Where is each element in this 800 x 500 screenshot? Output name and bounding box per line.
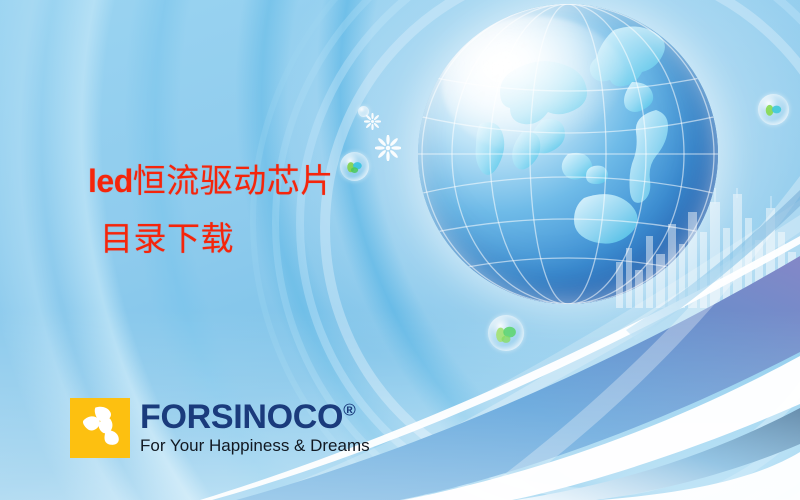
brand-name: FORSINOCO® bbox=[140, 401, 370, 434]
headline-line-2: 目录下载 bbox=[100, 222, 334, 255]
brand-name-text: FORSINOCO bbox=[140, 398, 343, 436]
globe-sphere bbox=[418, 4, 718, 304]
headline-line-1: led恒流驱动芯片 bbox=[88, 164, 334, 197]
brand-logo: FORSINOCO® For Your Happiness & Dreams bbox=[70, 398, 370, 458]
globe-rim-light bbox=[418, 4, 718, 304]
registered-trademark-icon: ® bbox=[343, 401, 355, 420]
earth-globe-icon bbox=[418, 4, 718, 304]
headline-text: led恒流驱动芯片 目录下载 bbox=[88, 164, 334, 255]
flower-mark-glyph bbox=[70, 398, 130, 458]
brand-tagline: For Your Happiness & Dreams bbox=[140, 436, 370, 456]
poster-canvas: led恒流驱动芯片 目录下载 FORSINOCO® For Your Happi… bbox=[0, 0, 800, 500]
brand-text-block: FORSINOCO® For Your Happiness & Dreams bbox=[140, 398, 370, 455]
headline-cjk: 恒流驱动芯片 bbox=[133, 161, 334, 200]
four-petal-flower-icon bbox=[70, 398, 130, 458]
headline-latin: led bbox=[88, 163, 133, 199]
